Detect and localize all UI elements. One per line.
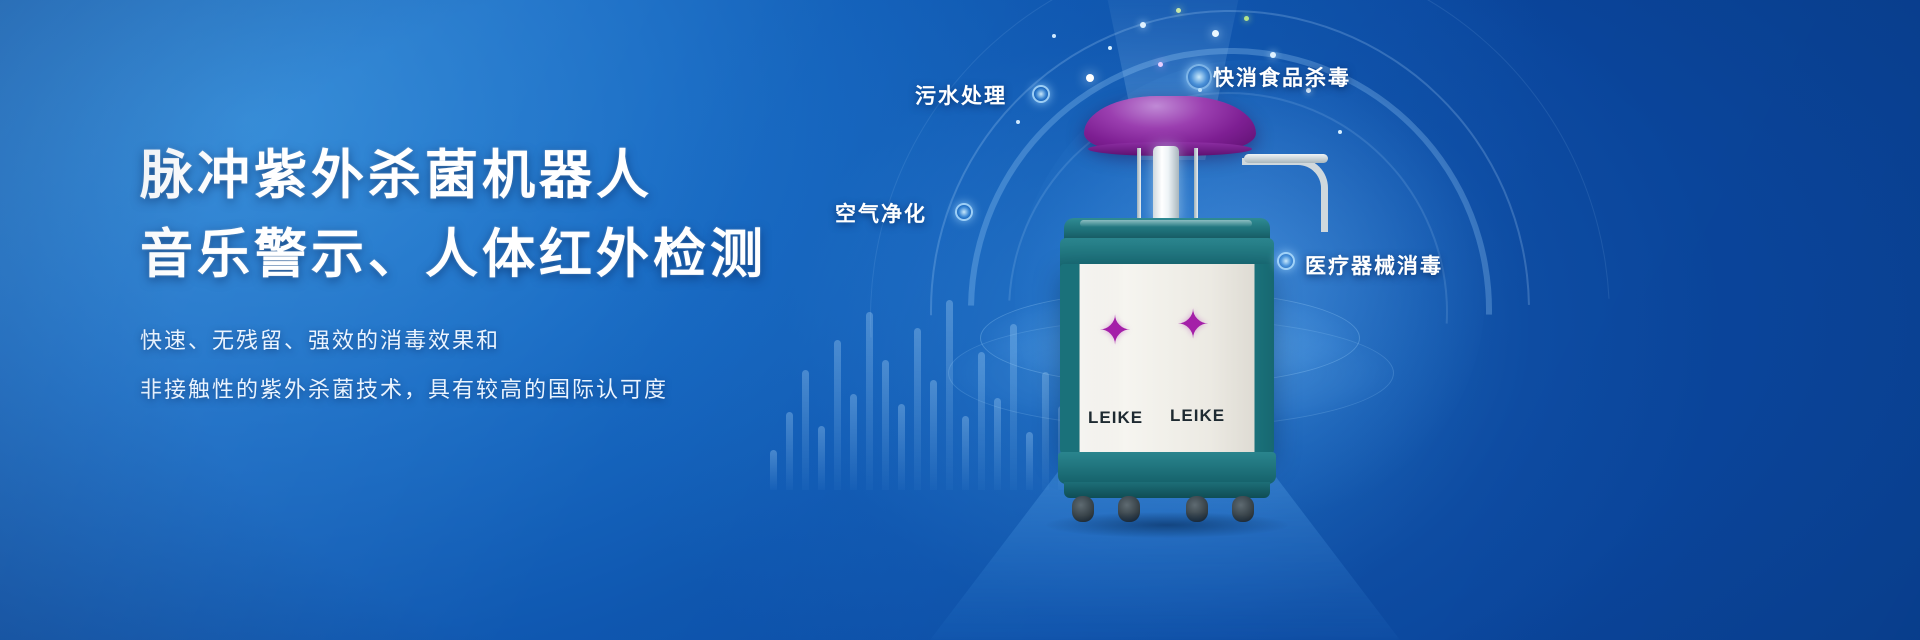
headline-line-2: 音乐警示、人体红外检测: [140, 229, 900, 282]
callout-label-wastewater: 污水处理: [915, 80, 1007, 110]
sparkle-particle: [1338, 130, 1342, 134]
sparkle-particle: [1212, 30, 1219, 37]
sparkle-particle: [1270, 52, 1276, 58]
callout-label-food: 快消食品杀毒: [1213, 62, 1351, 92]
sparkle-particle: [1176, 8, 1181, 13]
callout-label-medical: 医疗器械消毒: [1305, 250, 1443, 280]
push-handle-grip: [1244, 154, 1328, 163]
sparkle-particle: [1016, 120, 1020, 124]
brand-label-left: LEIKE: [1088, 408, 1143, 428]
sparkle-particle: [1086, 74, 1094, 82]
callout-node-medical-icon: [1277, 252, 1295, 270]
sparkle-particle: [1108, 46, 1112, 50]
headline-line-1: 脉冲紫外杀菌机器人: [140, 150, 900, 203]
robot-base: [1058, 452, 1276, 484]
sparkle-logo-icon: ✦: [1098, 314, 1132, 348]
uv-lamp-tube: [1153, 146, 1179, 224]
sparkle-logo-icon: ✦: [1176, 308, 1210, 342]
robot-ground-shadow: [1046, 512, 1288, 538]
callout-node-wastewater-icon: [1032, 85, 1050, 103]
sparkle-particle: [1158, 62, 1163, 67]
robot-top-plate-highlight: [1080, 220, 1252, 227]
sparkle-particle: [1244, 16, 1249, 21]
callout-node-food-icon: [1186, 64, 1212, 90]
callout-label-air: 空气净化: [835, 198, 927, 228]
sparkle-particle: [1052, 34, 1056, 38]
brand-label-right: LEIKE: [1170, 406, 1225, 426]
callout-node-air-icon: [955, 203, 973, 221]
promo-banner: 脉冲紫外杀菌机器人 音乐警示、人体红外检测 快速、无残留、强效的消毒效果和 非接…: [0, 0, 1920, 640]
uv-disinfection-robot: ✦ ✦ LEIKE LEIKE: [1036, 96, 1296, 516]
sparkle-particle: [1140, 22, 1146, 28]
